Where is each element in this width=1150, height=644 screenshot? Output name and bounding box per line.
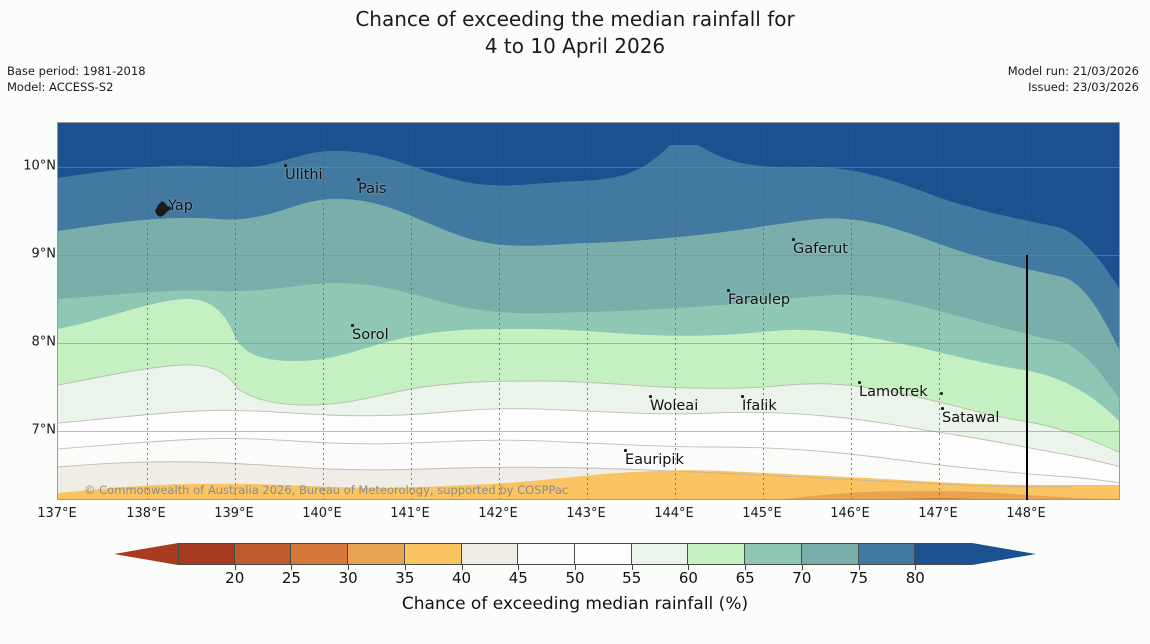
place-label-ifalik: Ifalik xyxy=(742,398,777,414)
lon-tick-143E: 143°E xyxy=(566,506,606,521)
colorbar-tick-label-25: 25 xyxy=(282,569,301,587)
colorbar-tick-label-50: 50 xyxy=(565,569,584,587)
place-dot-gaferut xyxy=(792,238,795,241)
probability-map[interactable] xyxy=(57,122,1120,500)
gridline-lon-143E xyxy=(587,123,588,499)
colorbar-segment-3 xyxy=(348,543,405,565)
colorbar-segment-1 xyxy=(235,543,292,565)
gridline-lon-139E xyxy=(235,123,236,499)
place-label-woleai: Woleai xyxy=(650,398,698,414)
place-label-pais: Pais xyxy=(358,181,387,197)
place-dot-lamotrek xyxy=(858,381,861,384)
gridline-lon-145E xyxy=(763,123,764,499)
lon-tick-141E: 141°E xyxy=(390,506,430,521)
colorbar-segment-5 xyxy=(462,543,519,565)
gridline-lon-138E xyxy=(147,123,148,499)
title-line-1: Chance of exceeding the median rainfall … xyxy=(0,6,1150,33)
base-period-text: Base period: 1981-2018 xyxy=(7,64,146,80)
colorbar-tick-label-20: 20 xyxy=(225,569,244,587)
place-dot-woleai xyxy=(649,395,652,398)
gridline-lon-146E xyxy=(851,123,852,499)
contour-field xyxy=(58,123,1120,500)
lon-tick-147E: 147°E xyxy=(918,506,958,521)
lon-tick-142E: 142°E xyxy=(478,506,518,521)
date-line-marker xyxy=(1026,255,1028,500)
place-label-yap: Yap xyxy=(168,198,193,214)
gridline-lon-140E xyxy=(323,123,324,499)
place-name-satawal: Satawal xyxy=(942,410,999,426)
place-label-faraulep: Faraulep xyxy=(728,292,790,308)
issued-text: Issued: 23/03/2026 xyxy=(1008,80,1139,96)
place-label-sorol: Sorol xyxy=(352,327,389,343)
place-name-yap: Yap xyxy=(168,198,193,214)
colorbar-tick-label-60: 60 xyxy=(679,569,698,587)
colorbar-tick-label-65: 65 xyxy=(736,569,755,587)
place-dot-sorol xyxy=(351,324,354,327)
place-name-woleai: Woleai xyxy=(650,398,698,414)
colorbar-tick-label-70: 70 xyxy=(792,569,811,587)
colorbar-title: Chance of exceeding median rainfall (%) xyxy=(0,594,1150,614)
place-dot-satawal xyxy=(941,407,944,410)
colorbar-segment-11 xyxy=(802,543,859,565)
gridline-lon-147E xyxy=(939,123,940,499)
place-name-pais: Pais xyxy=(358,181,387,197)
colorbar-segment-9 xyxy=(688,543,745,565)
colorbar-tick-label-45: 45 xyxy=(509,569,528,587)
colorbar-segment-12 xyxy=(859,543,916,565)
colorbar-tick-label-40: 40 xyxy=(452,569,471,587)
place-name-gaferut: Gaferut xyxy=(793,241,848,257)
colorbar-segment-7 xyxy=(575,543,632,565)
lat-tick-8N: 8°N xyxy=(0,335,56,350)
place-name-sorol: Sorol xyxy=(352,327,389,343)
unlabeled-island-dot xyxy=(940,392,943,395)
colorbar-gradient[interactable] xyxy=(178,543,972,565)
place-name-eauripik: Eauripik xyxy=(625,452,684,468)
colorbar-tick-label-30: 30 xyxy=(339,569,358,587)
lon-tick-140E: 140°E xyxy=(302,506,342,521)
colorbar-tick-label-55: 55 xyxy=(622,569,641,587)
colorbar-tick-label-80: 80 xyxy=(906,569,925,587)
place-name-ifalik: Ifalik xyxy=(742,398,777,414)
colorbar-segment-0 xyxy=(178,543,235,565)
place-dot-ulithi xyxy=(284,164,287,167)
place-label-satawal: Satawal xyxy=(942,410,999,426)
place-dot-eauripik xyxy=(624,449,627,452)
lon-tick-138E: 138°E xyxy=(126,506,166,521)
gridline-lat-7N xyxy=(58,431,1119,432)
model-run-text: Model run: 21/03/2026 xyxy=(1008,64,1139,80)
lon-tick-139E: 139°E xyxy=(214,506,254,521)
lon-tick-145E: 145°E xyxy=(742,506,782,521)
metadata-right: Model run: 21/03/2026 Issued: 23/03/2026 xyxy=(1008,64,1139,95)
colorbar-tick-label-35: 35 xyxy=(395,569,414,587)
gridline-lat-9N xyxy=(58,255,1119,256)
colorbar-under-arrow xyxy=(114,543,178,565)
place-label-eauripik: Eauripik xyxy=(625,452,684,468)
lat-tick-9N: 9°N xyxy=(0,247,56,262)
place-name-lamotrek: Lamotrek xyxy=(859,384,928,400)
lon-tick-148E: 148°E xyxy=(1006,506,1046,521)
colorbar-segment-6 xyxy=(518,543,575,565)
colorbar-segment-4 xyxy=(405,543,462,565)
place-dot-faraulep xyxy=(727,289,730,292)
copyright-credit: © Commonwealth of Australia 2026, Bureau… xyxy=(84,483,568,497)
colorbar-segment-2 xyxy=(291,543,348,565)
place-label-ulithi: Ulithi xyxy=(285,167,323,183)
colorbar-tick-label-75: 75 xyxy=(849,569,868,587)
page-title: Chance of exceeding the median rainfall … xyxy=(0,6,1150,60)
gridline-lon-141E xyxy=(411,123,412,499)
colorbar-segment-8 xyxy=(632,543,689,565)
metadata-left: Base period: 1981-2018 Model: ACCESS-S2 xyxy=(7,64,146,95)
colorbar-over-arrow xyxy=(972,543,1036,565)
place-label-gaferut: Gaferut xyxy=(793,241,848,257)
lon-tick-137E: 137°E xyxy=(37,506,77,521)
place-name-faraulep: Faraulep xyxy=(728,292,790,308)
colorbar-segment-13 xyxy=(915,543,972,565)
model-text: Model: ACCESS-S2 xyxy=(7,80,146,96)
place-dot-pais xyxy=(357,178,360,181)
place-name-ulithi: Ulithi xyxy=(285,167,323,183)
lat-tick-7N: 7°N xyxy=(0,423,56,438)
gridline-lon-144E xyxy=(675,123,676,499)
gridline-lat-8N xyxy=(58,343,1119,344)
title-line-2: 4 to 10 April 2026 xyxy=(0,33,1150,60)
lon-tick-144E: 144°E xyxy=(654,506,694,521)
gridline-lon-142E xyxy=(499,123,500,499)
lon-tick-146E: 146°E xyxy=(830,506,870,521)
colorbar-legend[interactable]: 20253035404550556065707580 Chance of exc… xyxy=(0,538,1150,644)
lat-tick-10N: 10°N xyxy=(0,159,56,174)
place-dot-ifalik xyxy=(741,395,744,398)
place-label-lamotrek: Lamotrek xyxy=(859,384,928,400)
colorbar-segment-10 xyxy=(745,543,802,565)
gridline-lat-10N xyxy=(58,167,1119,168)
